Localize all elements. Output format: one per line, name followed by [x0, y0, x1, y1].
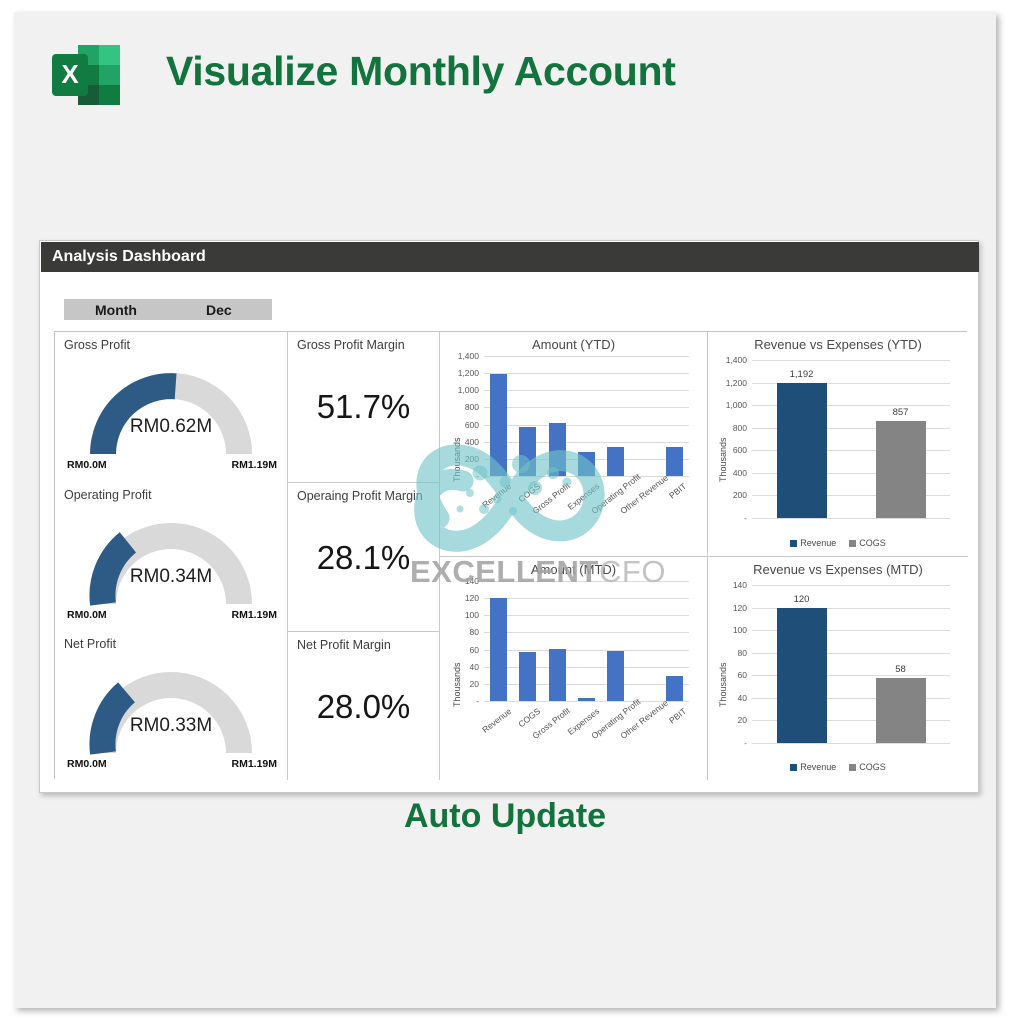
auto-update-label: Auto Update	[14, 797, 996, 836]
chart-y-tick-label: 140	[444, 576, 479, 586]
chart-y-tick-label: 1,200	[444, 368, 479, 378]
chart-legend: Revenue COGS	[708, 762, 968, 772]
chart-legend: Revenue COGS	[708, 538, 968, 548]
chart-bar	[519, 427, 536, 476]
chart-y-tick-label: 120	[712, 603, 747, 613]
legend-item: COGS	[849, 762, 886, 772]
margin-value: 28.0%	[288, 688, 439, 726]
chart-title: Revenue vs Expenses (MTD)	[708, 562, 968, 577]
legend-label: Revenue	[800, 538, 836, 548]
gauge-min-label: RM0.0M	[67, 609, 107, 621]
chart-y-tick-label: 100	[712, 625, 747, 635]
chart-gridline	[484, 598, 689, 599]
chart-gridline	[484, 615, 689, 616]
chart-bar	[578, 698, 595, 701]
chart-bar	[490, 598, 507, 701]
gauge-min-label: RM0.0M	[67, 459, 107, 471]
chart-bar	[549, 649, 566, 701]
gauge-max-label: RM1.19M	[231, 609, 277, 621]
chart-gridline	[484, 684, 689, 685]
chart-y-tick-label: 1,200	[712, 378, 747, 388]
gauge-min-label: RM0.0M	[67, 758, 107, 770]
chart-bar	[876, 678, 926, 743]
chart-y-tick-label: -	[444, 471, 479, 481]
gauge-value: RM0.34M	[55, 566, 287, 588]
margin-panel-operating: Operaing Profit Margin 28.1%	[288, 483, 439, 631]
chart-gridline	[484, 390, 689, 391]
chart-y-tick-label: 60	[712, 670, 747, 680]
chart-gridline	[484, 373, 689, 374]
legend-item: COGS	[849, 538, 886, 548]
legend-swatch-icon	[849, 540, 856, 547]
chart-y-tick-label: 60	[444, 645, 479, 655]
chart-revenue-vs-expenses-ytd: Revenue vs Expenses (YTD) Thousands Reve…	[708, 332, 968, 556]
chart-title: Amount (MTD)	[440, 562, 707, 577]
legend-swatch-icon	[790, 764, 797, 771]
chart-bar	[777, 608, 827, 743]
chart-y-tick-label: 20	[444, 679, 479, 689]
chart-data-label: 120	[777, 594, 827, 605]
chart-bar	[666, 676, 683, 701]
svg-text:X: X	[61, 59, 79, 89]
chart-y-tick-label: 1,400	[712, 355, 747, 365]
chart-gridline	[484, 425, 689, 426]
month-filter[interactable]: Month Dec	[64, 299, 272, 320]
margin-title: Operaing Profit Margin	[297, 489, 423, 503]
chart-y-tick-label: 200	[444, 454, 479, 464]
legend-swatch-icon	[790, 540, 797, 547]
chart-y-tick-label: -	[444, 696, 479, 706]
chart-title: Revenue vs Expenses (YTD)	[708, 337, 968, 352]
chart-bar	[549, 423, 566, 476]
page-title: Visualize Monthly Account	[166, 48, 676, 95]
gauge-net-profit	[55, 647, 287, 775]
chart-y-tick-label: 800	[712, 423, 747, 433]
gauge-gross-profit	[55, 348, 287, 476]
chart-y-tick-label: 1,000	[712, 400, 747, 410]
chart-y-tick-label: -	[712, 738, 747, 748]
chart-title: Amount (YTD)	[440, 337, 707, 352]
chart-bar	[876, 421, 926, 518]
gauge-max-label: RM1.19M	[231, 758, 277, 770]
gauge-panel-gross-profit: Gross Profit RM0.62M RM0.0M RM1.19M	[55, 332, 287, 482]
chart-gridline	[752, 585, 950, 586]
chart-y-tick-label: 100	[444, 610, 479, 620]
chart-bar	[578, 452, 595, 476]
chart-y-tick-label: 800	[444, 402, 479, 412]
chart-amount-mtd: Amount (MTD) Thousands 14012010080604020…	[440, 557, 707, 780]
gauge-panel-operating-profit: Operating Profit RM0.34M RM0.0M RM1.19M	[55, 482, 287, 631]
chart-y-tick-label: 600	[444, 420, 479, 430]
chart-bar	[777, 383, 827, 518]
chart-y-tick-label: 120	[444, 593, 479, 603]
legend-label: Revenue	[800, 762, 836, 772]
month-filter-value[interactable]: Dec	[206, 302, 232, 318]
chart-gridline	[484, 667, 689, 668]
chart-revenue-vs-expenses-mtd: Revenue vs Expenses (MTD) Thousands Reve…	[708, 557, 968, 780]
chart-bar	[607, 651, 624, 701]
chart-gridline	[752, 518, 950, 519]
gauge-value: RM0.62M	[55, 416, 287, 438]
gauge-value: RM0.33M	[55, 715, 287, 737]
legend-swatch-icon	[849, 764, 856, 771]
margin-value: 51.7%	[288, 388, 439, 426]
chart-y-tick-label: 20	[712, 715, 747, 725]
gauge-max-label: RM1.19M	[231, 459, 277, 471]
chart-gridline	[484, 356, 689, 357]
gauge-panel-net-profit: Net Profit RM0.33M RM0.0M RM1.19M	[55, 631, 287, 780]
chart-data-label: 58	[876, 664, 926, 675]
chart-bar	[666, 447, 683, 476]
chart-y-tick-label: -	[712, 513, 747, 523]
margin-title: Net Profit Margin	[297, 638, 391, 652]
page-canvas: X Visualize Monthly Account Analysis Das…	[14, 12, 996, 1008]
chart-gridline	[484, 650, 689, 651]
gauge-operating-profit	[55, 498, 287, 626]
analysis-dashboard: Analysis Dashboard Month Dec Gross Profi…	[39, 240, 979, 793]
chart-y-tick-label: 80	[712, 648, 747, 658]
legend-label: COGS	[859, 538, 886, 548]
margin-title: Gross Profit Margin	[297, 338, 405, 352]
chart-y-tick-label: 140	[712, 580, 747, 590]
margin-value: 28.1%	[288, 539, 439, 577]
legend-label: COGS	[859, 762, 886, 772]
chart-y-tick-label: 1,000	[444, 385, 479, 395]
legend-item: Revenue	[790, 762, 836, 772]
margin-panel-gross: Gross Profit Margin 51.7%	[288, 332, 439, 482]
margin-panel-net: Net Profit Margin 28.0%	[288, 632, 439, 780]
excel-logo-icon: X	[48, 37, 124, 113]
chart-y-tick-label: 400	[712, 468, 747, 478]
chart-y-tick-label: 400	[444, 437, 479, 447]
dashboard-grid: Gross Profit RM0.62M RM0.0M RM1.19M Oper…	[54, 331, 967, 779]
chart-gridline	[484, 407, 689, 408]
month-filter-label: Month	[95, 302, 137, 318]
chart-gridline	[484, 442, 689, 443]
chart-gridline	[484, 632, 689, 633]
chart-data-label: 1,192	[777, 369, 827, 380]
chart-gridline	[752, 360, 950, 361]
chart-y-tick-label: 600	[712, 445, 747, 455]
chart-bar	[519, 652, 536, 701]
chart-bar	[607, 447, 624, 476]
dashboard-title: Analysis Dashboard	[41, 248, 206, 266]
chart-gridline	[752, 743, 950, 744]
legend-item: Revenue	[790, 538, 836, 548]
chart-y-tick-label: 80	[444, 627, 479, 637]
chart-data-label: 857	[876, 407, 926, 418]
chart-y-tick-label: 40	[712, 693, 747, 703]
chart-bar	[490, 374, 507, 476]
page-header: X Visualize Monthly Account	[14, 12, 996, 142]
chart-y-tick-label: 1,400	[444, 351, 479, 361]
chart-y-tick-label: 200	[712, 490, 747, 500]
chart-y-tick-label: 40	[444, 662, 479, 672]
dashboard-titlebar: Analysis Dashboard	[41, 242, 979, 272]
chart-gridline	[484, 581, 689, 582]
chart-amount-ytd: Amount (YTD) Thousands 1,4001,2001,00080…	[440, 332, 707, 556]
